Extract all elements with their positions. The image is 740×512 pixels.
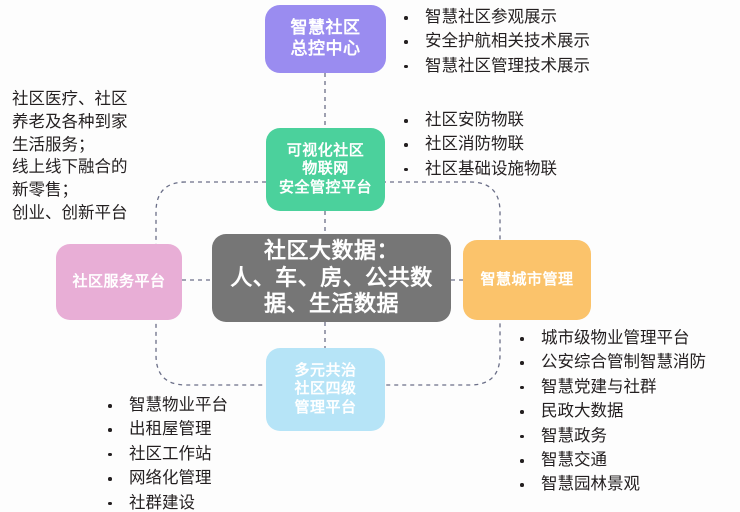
list-item: 智慧社区管理技术展示 [400, 54, 590, 78]
list-item: 智慧园林景观 [516, 472, 706, 496]
node-iot-platform-label: 可视化社区 物联网 安全管控平台 [266, 142, 385, 197]
governance-feature-list: 智慧物业平台 出租屋管理 社区工作站 网络化管理 社群建设 [104, 393, 228, 512]
node-iot-platform[interactable]: 可视化社区 物联网 安全管控平台 [266, 128, 385, 211]
list-item: 智慧党建与社群 [516, 375, 706, 399]
list-item: 公安综合管制智慧消防 [516, 350, 706, 374]
service-platform-description: 社区医疗、社区 养老及各种到家 生活服务； 线上线下融合的 新零售； 创业、创新… [12, 88, 187, 225]
list-item: 智慧社区参观展示 [400, 5, 590, 29]
list-item: 智慧物业平台 [104, 393, 228, 417]
list-item: 社区消防物联 [400, 132, 557, 156]
node-governance-platform-label: 多元共治 社区四级 管理平台 [266, 362, 385, 417]
diagram-canvas: 智慧社区 总控中心 可视化社区 物联网 安全管控平台 社区服务平台 社区大数据：… [0, 0, 740, 512]
smart-city-feature-list: 城市级物业管理平台 公安综合管制智慧消防 智慧党建与社群 民政大数据 智慧政务 … [516, 326, 706, 497]
node-control-center[interactable]: 智慧社区 总控中心 [265, 5, 386, 73]
list-item: 智慧交通 [516, 448, 706, 472]
list-item: 社区基础设施物联 [400, 157, 557, 181]
node-smart-city-label: 智慧城市管理 [463, 271, 591, 289]
node-control-center-label: 智慧社区 总控中心 [265, 18, 386, 59]
list-item: 民政大数据 [516, 399, 706, 423]
node-service-platform-label: 社区服务平台 [56, 273, 182, 291]
list-item: 社区工作站 [104, 442, 228, 466]
list-item: 城市级物业管理平台 [516, 326, 706, 350]
list-item: 安全护航相关技术展示 [400, 29, 590, 53]
list-item: 社群建设 [104, 491, 228, 512]
list-item: 社区安防物联 [400, 108, 557, 132]
node-smart-city[interactable]: 智慧城市管理 [463, 240, 591, 320]
node-governance-platform[interactable]: 多元共治 社区四级 管理平台 [266, 348, 385, 431]
node-service-platform[interactable]: 社区服务平台 [56, 244, 182, 320]
control-center-feature-list: 智慧社区参观展示 安全护航相关技术展示 智慧社区管理技术展示 [400, 5, 590, 78]
node-big-data[interactable]: 社区大数据： 人、车、房、公共数 据、生活数据 [212, 234, 451, 322]
list-item: 出租屋管理 [104, 417, 228, 441]
list-item: 网络化管理 [104, 466, 228, 490]
iot-platform-feature-list: 社区安防物联 社区消防物联 社区基础设施物联 [400, 108, 557, 181]
list-item: 智慧政务 [516, 424, 706, 448]
node-big-data-label: 社区大数据： 人、车、房、公共数 据、生活数据 [222, 238, 441, 318]
